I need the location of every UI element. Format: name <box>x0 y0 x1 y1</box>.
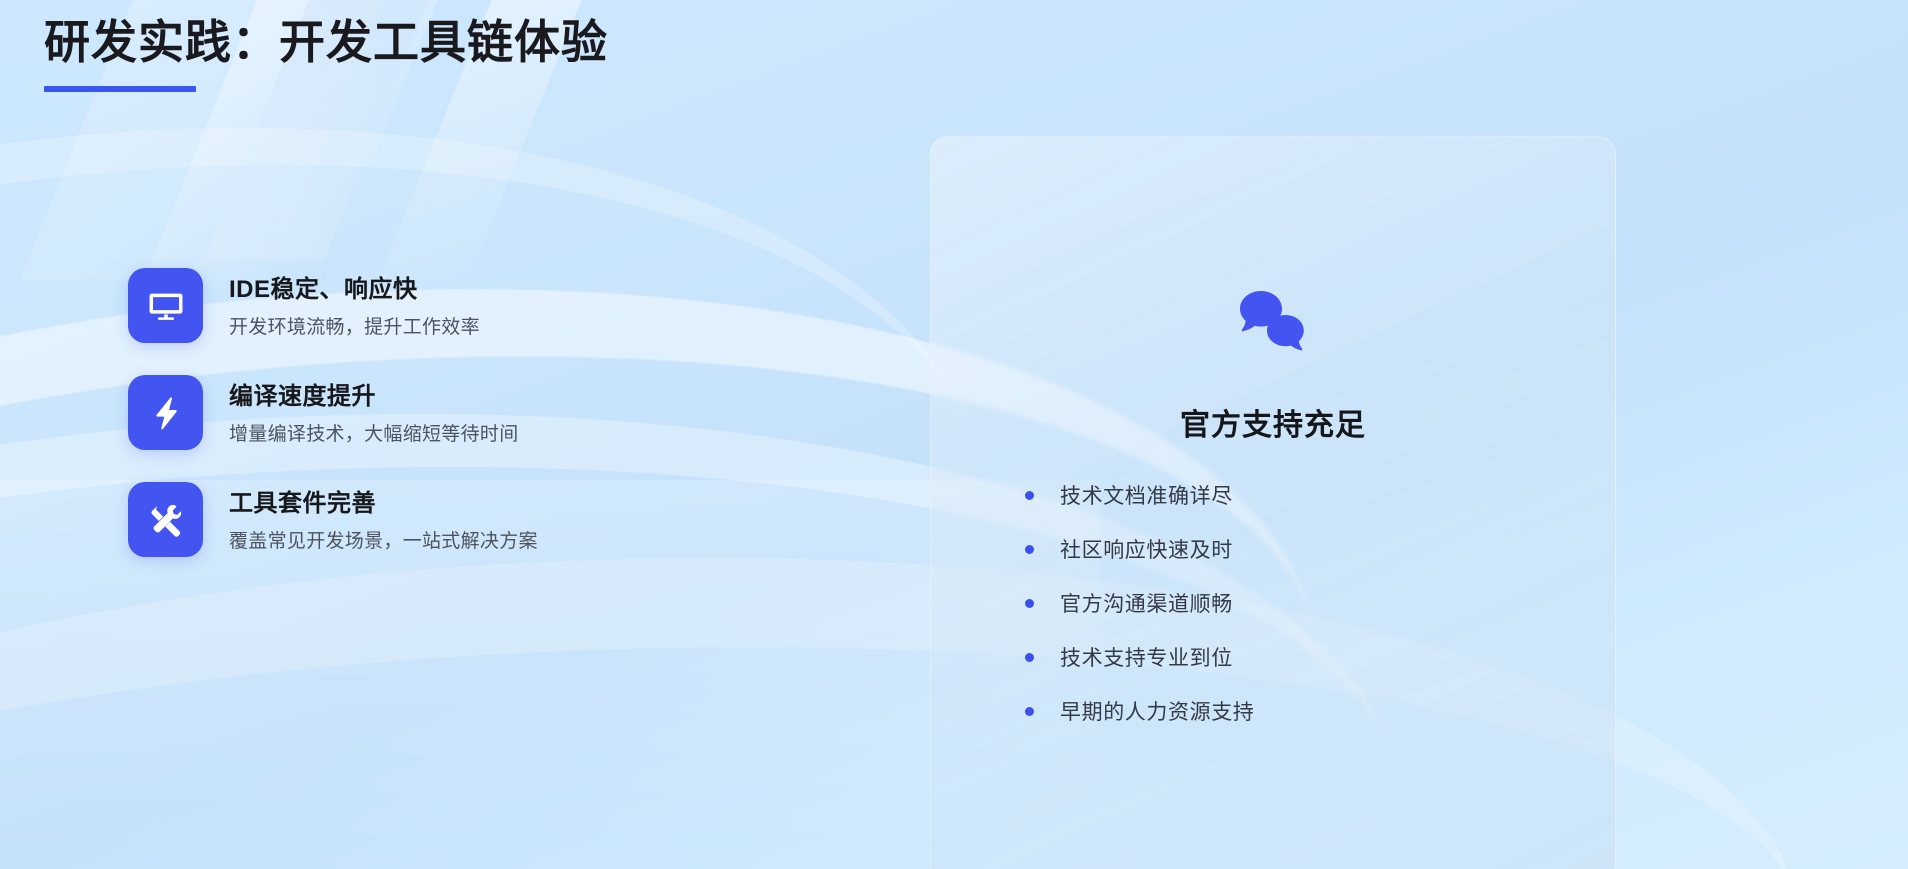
list-item: 技术文档准确详尽 <box>1025 480 1615 510</box>
bullet-icon <box>1025 599 1034 608</box>
feature-description: 增量编译技术，大幅缩短等待时间 <box>229 422 519 449</box>
list-item: 官方沟通渠道顺畅 <box>1025 588 1615 618</box>
feature-text: 工具套件完善 覆盖常见开发场景，一站式解决方案 <box>229 482 538 556</box>
feature-description: 覆盖常见开发场景，一站式解决方案 <box>229 529 538 556</box>
feature-text: 编译速度提升 增量编译技术，大幅缩短等待时间 <box>229 375 519 449</box>
list-item-label: 早期的人力资源支持 <box>1060 696 1254 726</box>
list-item: 技术支持专业到位 <box>1025 642 1615 672</box>
bullet-icon <box>1025 545 1034 554</box>
tools-icon <box>128 482 203 557</box>
list-item-label: 技术文档准确详尽 <box>1060 480 1233 510</box>
support-card-content: 官方支持充足 技术文档准确详尽 社区响应快速及时 官方沟通渠道顺畅 技术支持专业… <box>931 137 1615 726</box>
list-item: 社区响应快速及时 <box>1025 534 1615 564</box>
support-benefit-list: 技术文档准确详尽 社区响应快速及时 官方沟通渠道顺畅 技术支持专业到位 早期的人… <box>931 480 1615 726</box>
title-accent-rule <box>44 86 196 92</box>
feature-list: IDE稳定、响应快 开发环境流畅，提升工作效率 编译速度提升 增量编译技术，大幅… <box>128 268 808 557</box>
bullet-icon <box>1025 653 1034 662</box>
feature-item: IDE稳定、响应快 开发环境流畅，提升工作效率 <box>128 268 808 343</box>
feature-text: IDE稳定、响应快 开发环境流畅，提升工作效率 <box>229 268 480 342</box>
bullet-icon <box>1025 707 1034 716</box>
feature-item: 工具套件完善 覆盖常见开发场景，一站式解决方案 <box>128 482 808 557</box>
feature-title: IDE稳定、响应快 <box>229 274 480 306</box>
support-card-title: 官方支持充足 <box>931 400 1615 444</box>
bullet-icon <box>1025 491 1034 500</box>
list-item-label: 社区响应快速及时 <box>1060 534 1233 564</box>
list-item-label: 技术支持专业到位 <box>1060 642 1233 672</box>
feature-title: 编译速度提升 <box>229 381 519 413</box>
feature-description: 开发环境流畅，提升工作效率 <box>229 315 480 342</box>
monitor-icon <box>128 268 203 343</box>
lightning-bolt-icon <box>128 375 203 450</box>
list-item-label: 官方沟通渠道顺畅 <box>1060 588 1233 618</box>
page-title: 研发实践：开发工具链体验 <box>44 14 608 72</box>
feature-title: 工具套件完善 <box>229 488 538 520</box>
list-item: 早期的人力资源支持 <box>1025 696 1615 726</box>
support-card: 官方支持充足 技术文档准确详尽 社区响应快速及时 官方沟通渠道顺畅 技术支持专业… <box>930 136 1616 869</box>
feature-item: 编译速度提升 增量编译技术，大幅缩短等待时间 <box>128 375 808 450</box>
slide-header: 研发实践：开发工具链体验 <box>44 14 608 92</box>
chat-bubbles-icon <box>1235 137 1311 366</box>
